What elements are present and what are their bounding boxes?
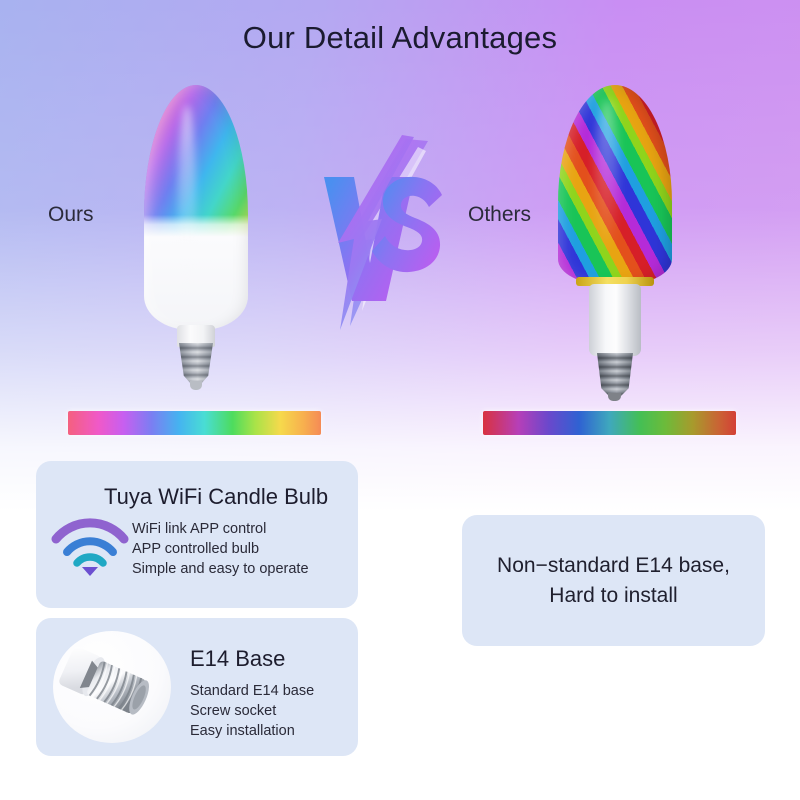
nonstandard-screw-base-icon [597,353,633,397]
feature-line: WiFi link APP control [132,519,309,539]
bulb-contact-tip [190,381,202,390]
bulb-neck [589,284,641,356]
spectrum-bar-others [483,411,736,435]
bulb-highlight [178,105,196,295]
page-title: Our Detail Advantages [0,20,800,56]
bulb-glass-rgb [144,85,248,330]
product-image-ours-bulb [140,85,252,395]
wifi-signal-icon [50,509,130,577]
feature-line: Easy installation [190,721,314,741]
drawback-line: Hard to install [497,581,730,611]
e14-base-photo [53,631,171,743]
drawback-text: Non−standard E14 base, Hard to install [497,551,730,611]
card-features-e14: Standard E14 base Screw socket Easy inst… [190,681,314,741]
feature-line: APP controlled bulb [132,539,309,559]
drawback-card-others: Non−standard E14 base, Hard to install [462,515,765,646]
feature-line: Standard E14 base [190,681,314,701]
bulb-contact-tip [608,393,621,401]
e14-screw-base-icon [179,343,213,385]
versus-badge [310,135,450,330]
card-title-wifi: Tuya WiFi Candle Bulb [104,484,328,510]
card-features-wifi: WiFi link APP control APP controlled bul… [132,519,309,579]
spectrum-bar-ours [68,411,321,435]
feature-card-e14: E14 Base Standard E14 base Screw socket … [36,618,358,756]
card-title-e14: E14 Base [190,646,285,672]
feature-card-wifi: Tuya WiFi Candle Bulb WiFi link APP cont… [36,461,358,608]
drawback-line: Non−standard E14 base, [497,551,730,581]
label-ours: Ours [48,203,94,227]
feature-line: Screw socket [190,701,314,721]
bulb-highlight [596,99,618,249]
feature-line: Simple and easy to operate [132,559,309,579]
product-image-others-bulb [556,85,674,395]
label-others: Others [468,203,531,227]
